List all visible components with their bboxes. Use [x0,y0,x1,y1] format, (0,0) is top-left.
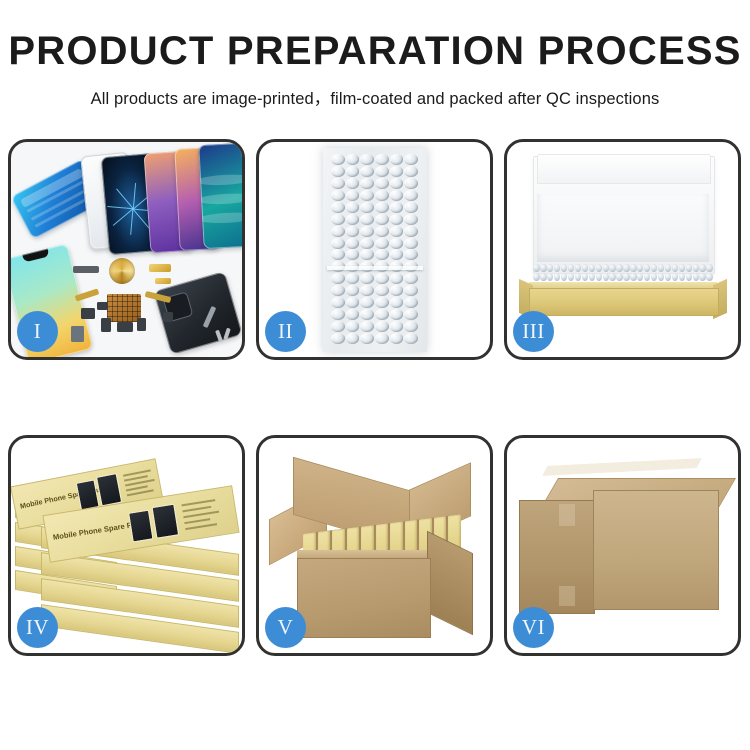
bubble [360,249,374,260]
step-panel-4: Mobile Phone Spare Parts Mobile Phone Sp… [8,435,245,656]
bubble [390,154,404,165]
bubble [630,273,636,281]
bubble [331,285,345,296]
bubble [404,285,418,296]
bubble [331,238,345,249]
bubble [375,285,389,296]
page-subtitle: All products are image-printed，film-coat… [0,85,750,109]
bubble [390,249,404,260]
bubble [672,264,678,272]
bubble [568,264,574,272]
bubble [404,309,418,320]
bubble [589,264,595,272]
bubble [568,273,574,281]
sealed-carton-illustration: VI [507,438,738,653]
bubble [651,273,657,281]
bubble [616,264,622,272]
step-panel-6: VI [504,435,741,656]
bubble [390,297,404,308]
bubble [375,226,389,237]
bubble [360,178,374,189]
bubble [331,273,345,284]
step-badge-4: IV [17,607,58,648]
bubble [390,166,404,177]
step-panel-3: III [504,139,741,360]
bubble [346,321,360,332]
bubble [346,154,360,165]
box-lid-top-edge [537,154,711,184]
bubble [672,273,678,281]
header: PRODUCT PREPARATION PROCESS All products… [0,0,750,109]
step-panel-5: V [256,435,493,656]
bubble [589,273,595,281]
box-front-kraft [529,288,719,316]
bubble [331,154,345,165]
bubble [331,214,345,225]
step-panel-2: II [256,139,493,360]
bubble [404,202,418,213]
bubble [582,273,588,281]
bubble [575,273,581,281]
part-small-5 [71,326,84,342]
part-small-7 [163,312,173,322]
foam-insert [537,194,709,262]
bubble [375,297,389,308]
bubble [603,264,609,272]
bubble [390,321,404,332]
carton-tape-seam-1 [559,504,575,526]
bubble [331,178,345,189]
bubble [346,297,360,308]
part-gold-flex-2 [155,278,171,284]
bubble [609,264,615,272]
bubble [609,273,615,281]
bubble [390,238,404,249]
bubble [596,273,602,281]
bubble [404,273,418,284]
bubble-wrap-seam [327,266,423,270]
bubble [360,202,374,213]
bubble [375,154,389,165]
carton-filling-illustration: V [259,438,490,653]
bubble [346,238,360,249]
bubble [331,226,345,237]
product-preparation-infographic: PRODUCT PREPARATION PROCESS All products… [0,0,750,750]
bubble [404,238,418,249]
bubble [651,264,657,272]
bubble [630,264,636,272]
bubble [390,202,404,213]
bubble [699,264,705,272]
bubble [582,264,588,272]
bubble [658,273,664,281]
bubble [331,166,345,177]
bubble [360,273,374,284]
bubble [404,178,418,189]
connector-grid-part [107,294,141,322]
bubble [404,333,418,344]
bubble [404,249,418,260]
bubble [693,264,699,272]
step-badge-2: II [265,311,306,352]
part-gold-flex-1 [149,264,171,272]
bubble [603,273,609,281]
bubble [686,264,692,272]
bubble [554,273,560,281]
bubble [331,202,345,213]
carton-side-right [427,531,473,635]
box-screen-image-1b [96,473,122,506]
box-stack-illustration: Mobile Phone Spare Parts Mobile Phone Sp… [11,438,242,653]
bubble [658,264,664,272]
bubble [644,273,650,281]
bubble [404,297,418,308]
bubble [561,264,567,272]
bubble [346,178,360,189]
bubble [679,273,685,281]
bubble [706,264,712,272]
bubble [346,285,360,296]
step-badge-6: VI [513,607,554,648]
bubble [665,264,671,272]
bubble [540,264,546,272]
bubble [404,226,418,237]
bubble [331,297,345,308]
bubble [360,309,374,320]
step-panel-1: I [8,139,245,360]
bubble [644,264,650,272]
bubble [375,321,389,332]
bubble [360,214,374,225]
bubble [699,273,705,281]
speaker-coil-part [109,258,135,284]
bubble [375,190,389,201]
bubble [360,190,374,201]
bubble [360,226,374,237]
carton-tape-seam-2 [559,586,575,606]
bubble [390,333,404,344]
bubble [533,264,539,272]
bubble [375,238,389,249]
bubble [390,214,404,225]
steps-grid: I II III [8,139,742,677]
bubble [404,190,418,201]
bubble [360,297,374,308]
carton-face-right [593,490,719,610]
bubble [375,309,389,320]
bubble [547,264,553,272]
bubble [390,190,404,201]
bubble [346,273,360,284]
bubble [346,226,360,237]
bubble [360,166,374,177]
bubble [375,178,389,189]
bubble [375,273,389,284]
part-small-4 [137,318,146,331]
bubble [561,273,567,281]
bubble [375,333,389,344]
bubble [390,309,404,320]
bubble [346,214,360,225]
bubble [540,273,546,281]
bubble [575,264,581,272]
bubble [375,202,389,213]
bubble [375,249,389,260]
bubble [706,273,712,281]
bubble [596,264,602,272]
bubble [331,190,345,201]
bubble [331,321,345,332]
step-badge-5: V [265,607,306,648]
bubble [686,273,692,281]
bubble [533,273,539,281]
phone-teal-wave [198,143,242,249]
bubble [390,226,404,237]
bubble [360,238,374,249]
bubble [637,273,643,281]
part-small-1 [81,308,95,319]
bubble [346,333,360,344]
bubble [547,273,553,281]
bubble [346,166,360,177]
page-title: PRODUCT PREPARATION PROCESS [0,30,750,72]
bubble [390,285,404,296]
step-badge-3: III [513,311,554,352]
bubble [331,333,345,344]
bubble [331,309,345,320]
products-overview-illustration: I [11,142,242,357]
part-small-6 [97,302,108,310]
bubble [346,190,360,201]
bubble [390,273,404,284]
bubble [637,264,643,272]
bubble [346,249,360,260]
bubble [346,202,360,213]
bubble [616,273,622,281]
bubble [679,264,685,272]
carton-face-left [519,500,595,614]
bubble [623,273,629,281]
bubble [404,321,418,332]
bubble [693,273,699,281]
carton-front-face [297,558,431,638]
bubble [360,333,374,344]
part-small-3 [117,322,133,332]
box-screen-image-2b [151,504,179,539]
bubble [375,214,389,225]
bubble [375,166,389,177]
bubble [346,309,360,320]
box-screen-image-2a [128,510,153,543]
part-chip-1 [73,266,99,273]
bubble [665,273,671,281]
bubble [554,264,560,272]
inner-box-illustration: III [507,142,738,357]
bubble [404,214,418,225]
bubble [404,154,418,165]
bubble [404,166,418,177]
part-small-2 [101,318,111,332]
bubble [360,285,374,296]
step-badge-1: I [17,311,58,352]
bubble-wrap-illustration: II [259,142,490,357]
bubble [331,249,345,260]
bubble [360,154,374,165]
bubble [623,264,629,272]
bubble-grid [331,154,419,344]
bubble [390,178,404,189]
bubble [360,321,374,332]
